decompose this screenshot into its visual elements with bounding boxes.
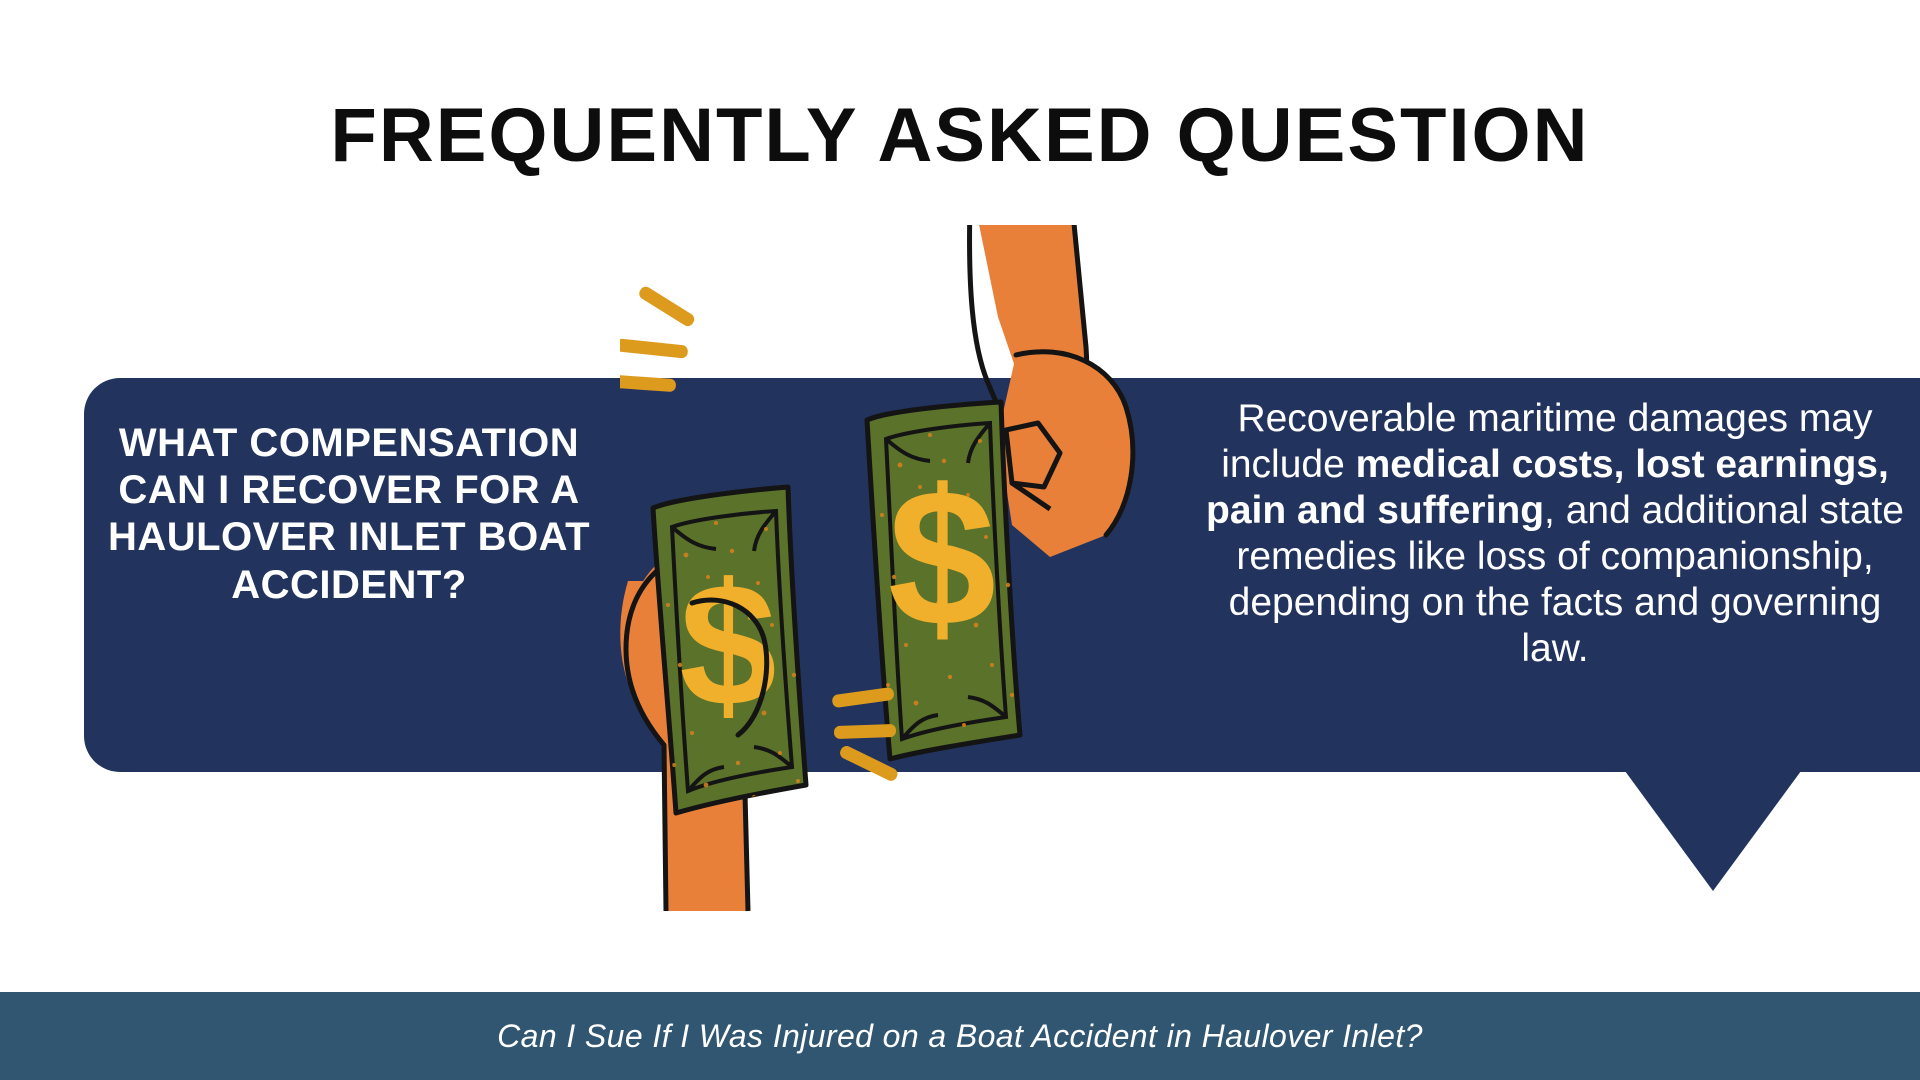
faq-answer-text: Recoverable maritime damages may include…: [1205, 396, 1905, 672]
svg-text:$: $: [679, 548, 776, 743]
hands-cash-illustration: $: [620, 225, 1180, 925]
motion-dashes-top: [620, 284, 696, 392]
faq-question-text: WHAT COMPENSATION CAN I RECOVER FOR A HA…: [84, 420, 614, 609]
dollar-bill-upper: $: [867, 402, 1020, 759]
dollar-bill-lower: $: [653, 487, 806, 813]
dollar-sign-glyph-lower: $: [679, 548, 776, 743]
banner-tail-pointer: [1625, 771, 1801, 891]
footer-caption: Can I Sue If I Was Injured on a Boat Acc…: [0, 1018, 1920, 1055]
dollar-sign-glyph-upper: $: [888, 449, 996, 667]
svg-text:$: $: [888, 449, 996, 667]
page-title: FREQUENTLY ASKED QUESTION: [0, 96, 1920, 176]
